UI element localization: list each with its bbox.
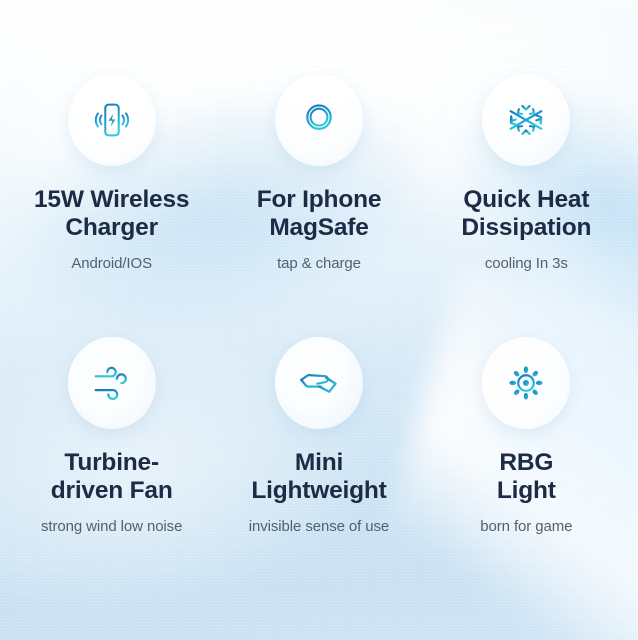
feature-cell-heat-dissipation: Quick Heat Dissipation cooling In 3s: [423, 74, 630, 337]
magsafe-ring-icon: [296, 97, 342, 143]
feature-subtitle: Android/IOS: [71, 255, 152, 273]
feature-cell-magsafe: For Iphone MagSafe tap & charge: [215, 74, 422, 337]
feature-subtitle: cooling In 3s: [485, 255, 568, 273]
open-hand-icon: [296, 360, 342, 406]
feature-title: Mini Lightweight: [251, 449, 386, 505]
brightness-sun-icon: [503, 360, 549, 406]
feature-subtitle: born for game: [480, 518, 572, 536]
feature-subtitle: strong wind low noise: [41, 518, 182, 536]
feature-poster: 15W Wireless Charger Android/IOS For Iph…: [0, 0, 638, 640]
phone-wireless-charging-icon: [89, 97, 135, 143]
feature-title: For Iphone MagSafe: [257, 186, 382, 242]
feature-subtitle: invisible sense of use: [249, 518, 389, 536]
feature-title: 15W Wireless Charger: [34, 186, 189, 242]
snowflake-icon: [503, 97, 549, 143]
feature-title: RBG Light: [497, 449, 556, 505]
feature-cell-rgb-light: RBG Light born for game: [423, 337, 630, 600]
feature-cell-wireless-charger: 15W Wireless Charger Android/IOS: [8, 74, 215, 337]
feature-icon-badge: [275, 74, 363, 166]
feature-grid: 15W Wireless Charger Android/IOS For Iph…: [0, 0, 638, 640]
feature-cell-turbine-fan: Turbine- driven Fan strong wind low nois…: [8, 337, 215, 600]
feature-icon-badge: [68, 337, 156, 429]
feature-icon-badge: [482, 337, 570, 429]
feature-icon-badge: [68, 74, 156, 166]
feature-title: Turbine- driven Fan: [51, 449, 173, 505]
feature-icon-badge: [482, 74, 570, 166]
feature-icon-badge: [275, 337, 363, 429]
feature-subtitle: tap & charge: [277, 255, 361, 273]
feature-title: Quick Heat Dissipation: [461, 186, 591, 242]
feature-cell-mini-lightweight: Mini Lightweight invisible sense of use: [215, 337, 422, 600]
wind-flow-icon: [89, 360, 135, 406]
